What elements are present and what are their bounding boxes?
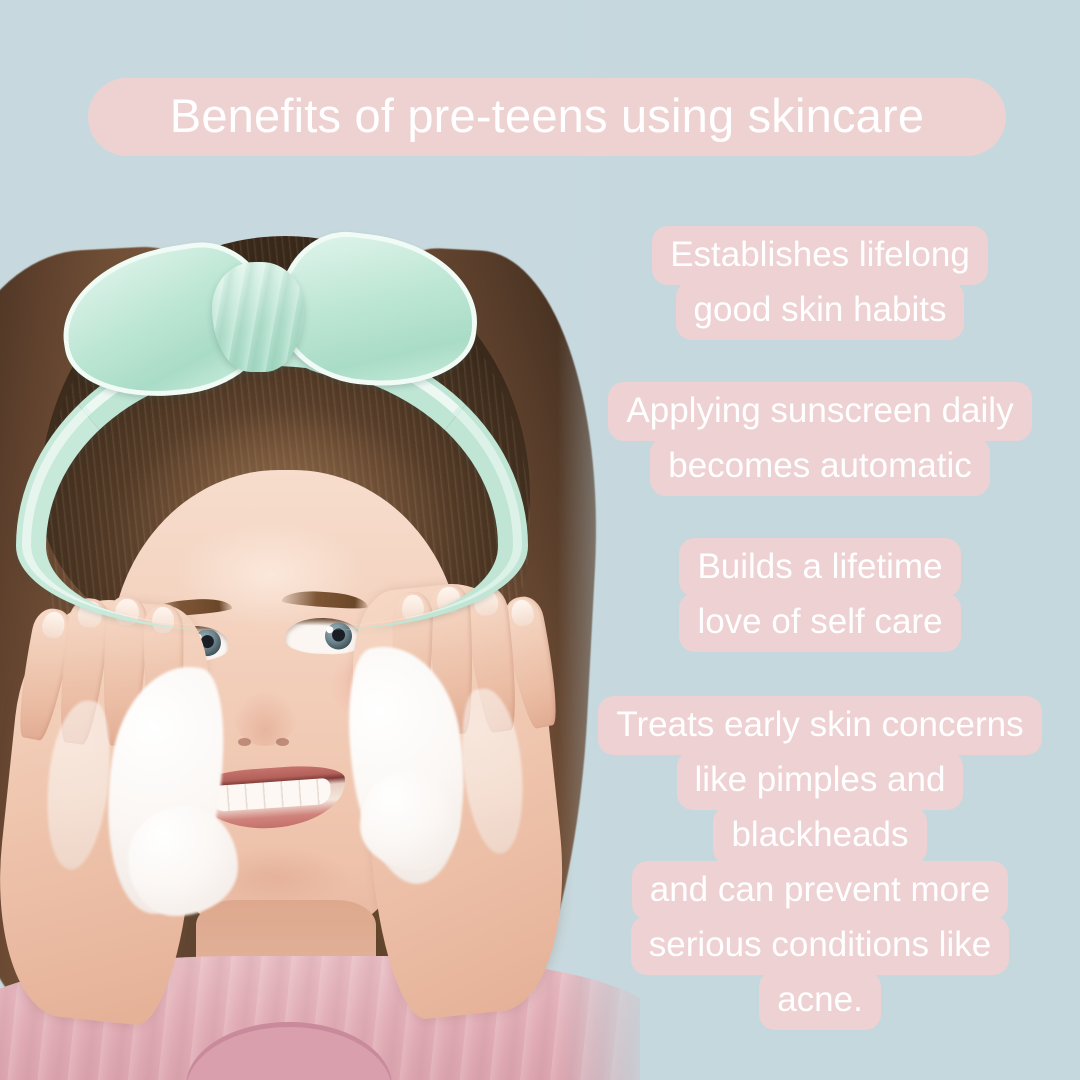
- title-banner: Benefits of pre-teens using skincare: [88, 78, 1006, 156]
- page-title: Benefits of pre-teens using skincare: [170, 92, 924, 142]
- benefit-line: and can prevent more: [632, 861, 1008, 920]
- benefit-line: love of self care: [679, 593, 960, 652]
- bow-knot: [212, 262, 304, 372]
- benefit-line: Treats early skin concerns: [598, 696, 1041, 755]
- benefit-item-early-concerns: Treats early skin concerns like pimples …: [570, 696, 1070, 1030]
- benefit-line: Builds a lifetime: [679, 538, 960, 597]
- foam-cheek-left-lower: [128, 806, 238, 916]
- benefit-line: like pimples and: [677, 751, 964, 810]
- benefit-line: serious conditions like: [631, 916, 1009, 975]
- nostril-right: [276, 738, 289, 746]
- benefit-line: Applying sunscreen daily: [608, 382, 1031, 441]
- teeth: [210, 778, 331, 811]
- benefit-line: becomes automatic: [650, 437, 989, 496]
- fingernail: [509, 598, 536, 628]
- foam-cheek-right-lower: [360, 770, 460, 870]
- benefit-line: Establishes lifelong: [652, 226, 988, 285]
- benefit-line: good skin habits: [676, 281, 965, 340]
- fingernail: [40, 610, 67, 640]
- benefit-item-sunscreen-daily: Applying sunscreen daily becomes automat…: [570, 382, 1070, 496]
- benefits-list: Establishes lifelong good skin habits Ap…: [570, 210, 1070, 1030]
- nostril-left: [238, 738, 251, 746]
- infographic-canvas: Benefits of pre-teens using skincare Est…: [0, 0, 1080, 1080]
- hero-photo: [0, 0, 640, 1080]
- benefit-item-self-care: Builds a lifetime love of self care: [570, 538, 1070, 652]
- benefit-item-lifelong-habits: Establishes lifelong good skin habits: [570, 226, 1070, 340]
- benefit-line: acne.: [759, 971, 881, 1030]
- benefit-line: blackheads: [713, 806, 926, 865]
